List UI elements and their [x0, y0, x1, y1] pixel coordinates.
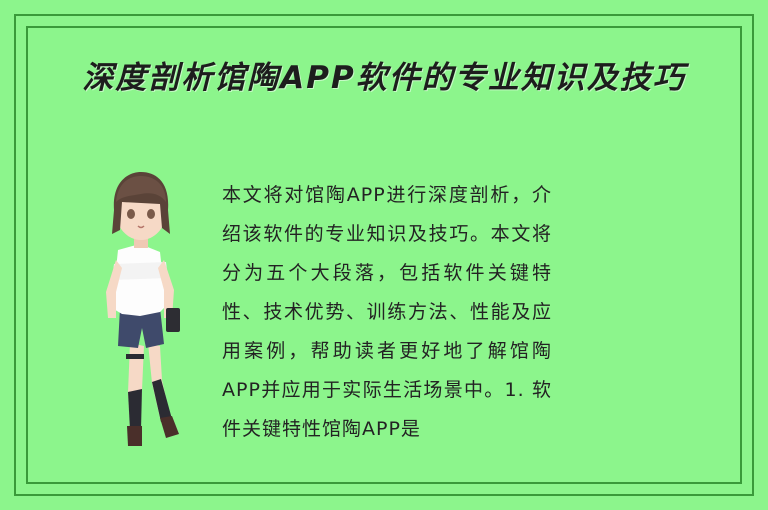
page-title: 深度剖析馆陶APP软件的专业知识及技巧 — [0, 52, 768, 97]
poster-canvas: 深度剖析馆陶APP软件的专业知识及技巧 — [0, 0, 768, 510]
anime-girl-character-illustration — [78, 168, 208, 468]
body-paragraph: 本文将对馆陶APP进行深度剖析，介绍该软件的专业知识及技巧。本文将分为五个大段落… — [222, 176, 552, 449]
